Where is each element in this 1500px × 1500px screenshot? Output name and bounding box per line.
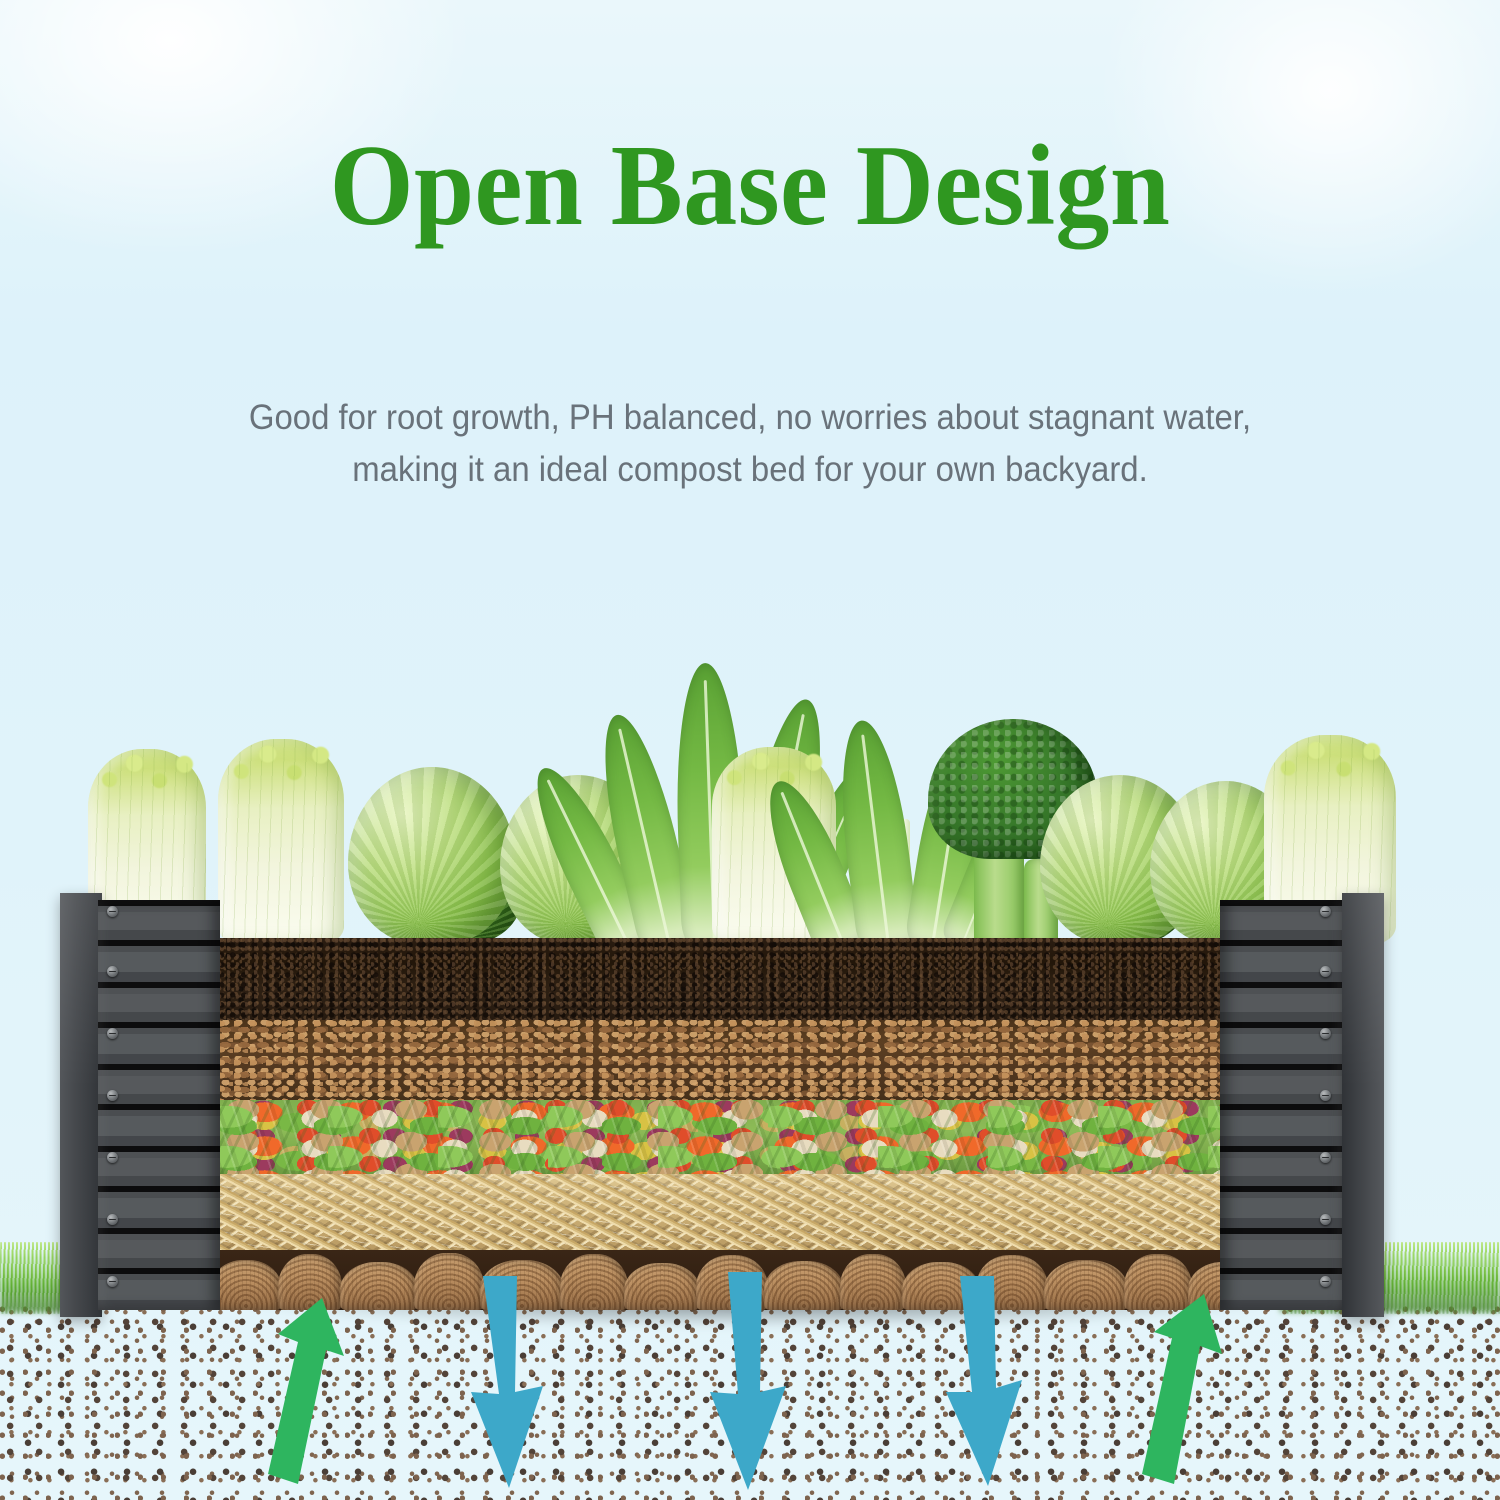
page-title: Open Base Design — [53, 128, 1448, 244]
screw-icon — [1320, 1090, 1331, 1101]
post-sheen — [1342, 893, 1384, 1088]
arrow-down-blue-1 — [465, 1276, 557, 1488]
arrow-down-blue-3 — [938, 1276, 1030, 1486]
corrugated-surface — [98, 900, 220, 1310]
screw-icon — [1320, 1028, 1331, 1039]
bed-cross-section — [218, 938, 1220, 1310]
layer-topsoil — [218, 938, 1220, 1020]
screw-icon — [1320, 1152, 1331, 1163]
layer-compost — [218, 1020, 1220, 1100]
log-piece — [560, 1254, 628, 1310]
infographic-canvas: Open Base Design Good for root growth, P… — [0, 0, 1500, 1500]
right-corner-post — [1342, 893, 1384, 1317]
arrow-down-blue-2 — [700, 1272, 792, 1490]
vegetable-row — [0, 620, 1500, 945]
log-piece — [840, 1254, 906, 1310]
cabbage-head — [348, 767, 516, 945]
right-metal-panel — [1220, 900, 1342, 1310]
post-sheen — [60, 893, 102, 1088]
arrow-up-green-left — [248, 1298, 344, 1484]
screw-icon — [1320, 906, 1331, 917]
napa-cabbage — [218, 739, 344, 945]
screw-icon — [107, 1214, 118, 1225]
layer-straw — [218, 1174, 1220, 1250]
subtitle-line-1: Good for root growth, PH balanced, no wo… — [111, 392, 1389, 444]
screw-icon — [107, 1276, 118, 1287]
corrugated-surface — [1220, 900, 1342, 1310]
left-corner-post — [60, 893, 102, 1317]
screw-icon — [107, 1090, 118, 1101]
screw-icon — [107, 1028, 118, 1039]
screw-icon — [107, 1152, 118, 1163]
screw-icon — [107, 906, 118, 917]
arrow-up-green-right — [1128, 1294, 1224, 1484]
log-piece — [624, 1263, 700, 1310]
log-piece — [340, 1262, 418, 1310]
log-piece — [1044, 1260, 1128, 1310]
left-metal-panel — [98, 900, 220, 1310]
layer-kitchen-scraps — [218, 1100, 1220, 1174]
page-subtitle: Good for root growth, PH balanced, no wo… — [70, 392, 1430, 496]
subtitle-line-2: making it an ideal compost bed for your … — [111, 444, 1389, 496]
screw-icon — [1320, 1276, 1331, 1287]
screw-icon — [1320, 1214, 1331, 1225]
screw-icon — [1320, 966, 1331, 977]
screw-icon — [107, 966, 118, 977]
